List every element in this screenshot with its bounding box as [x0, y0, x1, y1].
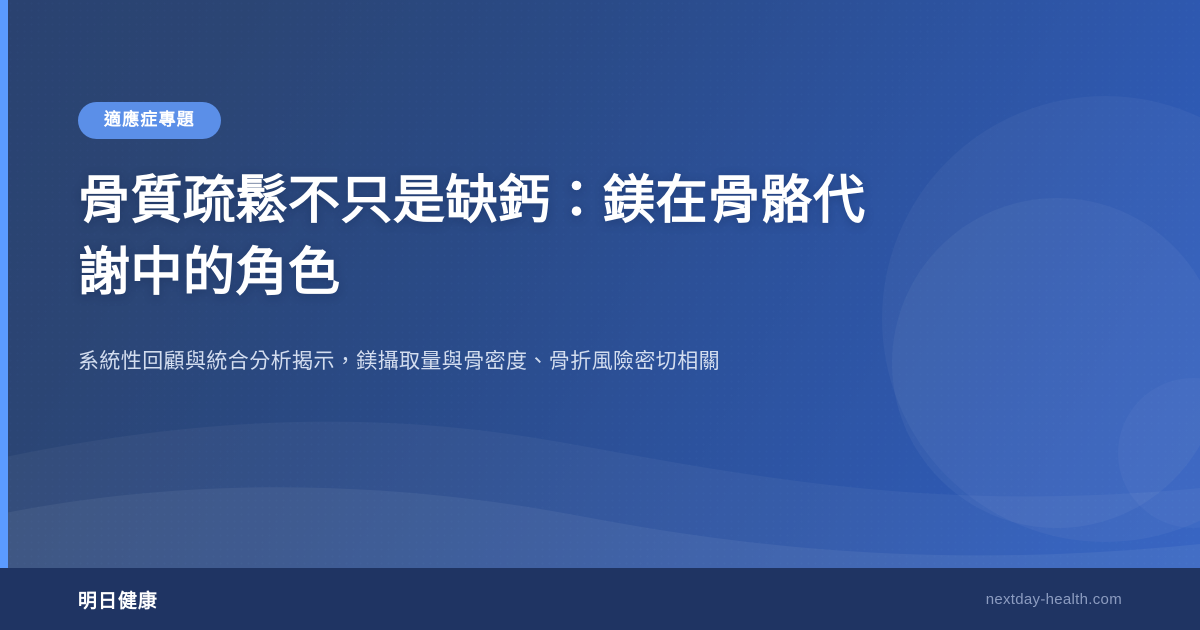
footer-website-url[interactable]: nextday-health.com — [986, 591, 1122, 608]
page-subtitle: 系統性回顧與統合分析揭示，鎂攝取量與骨密度、骨折風險密切相關 — [78, 345, 898, 379]
decorative-circle-small-icon — [1118, 378, 1200, 528]
card-footer: 明日健康 nextday-health.com — [0, 568, 1200, 630]
card-content: 適應症專題 骨質疏鬆不只是缺鈣：鎂在骨骼代謝中的角色 系統性回顧與統合分析揭示，… — [78, 0, 958, 379]
decorative-wave-back-icon — [0, 422, 1200, 568]
page-title: 骨質疏鬆不只是缺鈣：鎂在骨骼代謝中的角色 — [78, 165, 908, 309]
footer-brand-name: 明日健康 — [78, 586, 158, 613]
category-badge[interactable]: 適應症專題 — [78, 102, 221, 139]
social-share-card: 適應症專題 骨質疏鬆不只是缺鈣：鎂在骨骼代謝中的角色 系統性回顧與統合分析揭示，… — [0, 0, 1200, 630]
decorative-wave-front-icon — [0, 487, 1200, 568]
left-accent-bar — [0, 0, 8, 568]
